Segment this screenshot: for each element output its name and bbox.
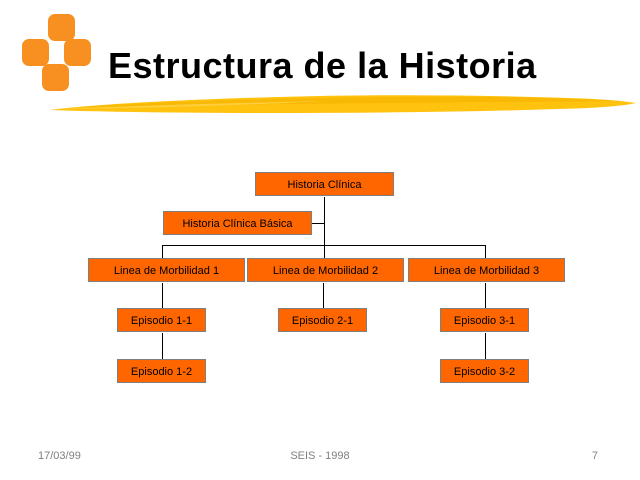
connector-episodio31-episodio32: [485, 333, 486, 359]
connector-drop-morbilidad-3: [485, 245, 486, 258]
node-linea-morbilidad-1[interactable]: Linea de Morbilidad 1: [88, 258, 245, 282]
connector-morbilidad2-episodio21: [323, 283, 324, 308]
node-episodio-1-1[interactable]: Episodio 1-1: [117, 308, 206, 332]
node-episodio-2-1[interactable]: Episodio 2-1: [278, 308, 367, 332]
connector-drop-morbilidad-1: [162, 245, 163, 258]
connector-morbilidad1-episodio11: [162, 283, 163, 308]
org-chart-diagram: Historia Clínica Historia Clínica Básica…: [0, 0, 640, 480]
node-historia-clinica-basica[interactable]: Historia Clínica Básica: [163, 211, 312, 235]
node-linea-morbilidad-2[interactable]: Linea de Morbilidad 2: [247, 258, 404, 282]
connector-trunk-main: [324, 197, 325, 258]
connector-morbilidad3-episodio31: [485, 283, 486, 308]
footer-page-number: 7: [0, 450, 640, 462]
connector-morbilidad-bus: [162, 245, 486, 246]
node-linea-morbilidad-3[interactable]: Linea de Morbilidad 3: [408, 258, 565, 282]
node-episodio-3-1[interactable]: Episodio 3-1: [440, 308, 529, 332]
connector-episodio11-episodio12: [162, 333, 163, 359]
slide-canvas: Estructura de la Historia Historia Clíni…: [0, 0, 640, 480]
node-historia-clinica[interactable]: Historia Clínica: [255, 172, 394, 196]
node-episodio-1-2[interactable]: Episodio 1-2: [117, 359, 206, 383]
node-episodio-3-2[interactable]: Episodio 3-2: [440, 359, 529, 383]
connector-to-basica: [312, 223, 325, 224]
